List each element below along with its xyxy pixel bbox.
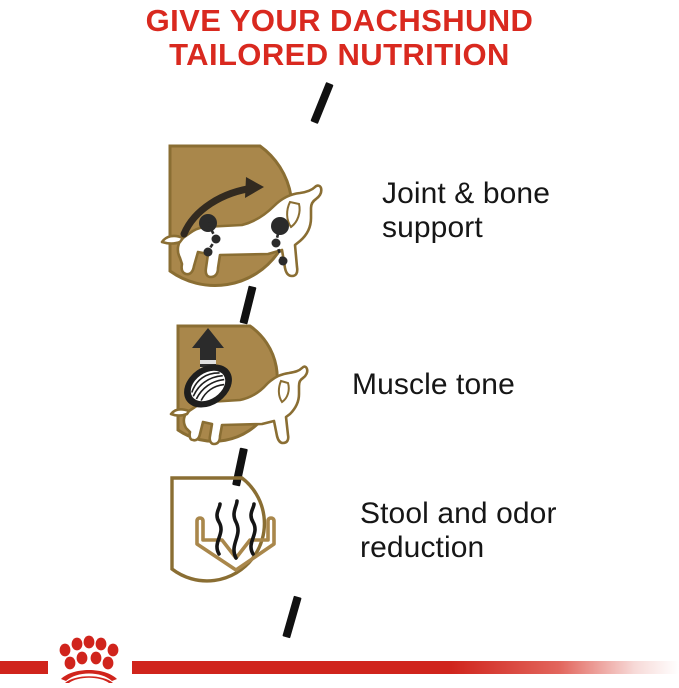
feature-item: Joint & bone support [150, 126, 550, 296]
page-title-line-2: TAILORED NUTRITION [0, 38, 679, 72]
page-title-line-1: GIVE YOUR DACHSHUND [0, 4, 679, 38]
connector-dash [310, 82, 333, 124]
royal-canin-crown-logo [49, 633, 129, 683]
footer-bar-left [0, 661, 48, 674]
feature-item: Stool and odor reduction [150, 466, 557, 596]
joint-bone-support-icon [150, 126, 340, 296]
muscle-tone-icon [150, 310, 340, 460]
page-title: GIVE YOUR DACHSHUND TAILORED NUTRITION [0, 4, 679, 72]
feature-label: Muscle tone [352, 368, 515, 402]
feature-label: Stool and odor reduction [360, 497, 557, 565]
feature-label: Joint & bone support [382, 177, 550, 245]
connector-dash [282, 596, 301, 639]
feature-item: Muscle tone [150, 310, 515, 460]
stool-odor-reduction-icon [150, 466, 340, 596]
footer-bar-right [132, 661, 679, 674]
